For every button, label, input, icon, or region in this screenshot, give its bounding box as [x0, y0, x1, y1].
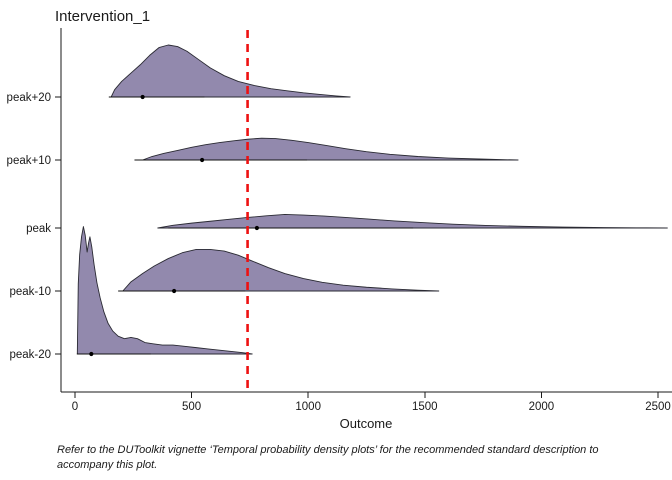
density-ridge-peak — [158, 214, 668, 230]
y-tick-label: peak-10 — [9, 286, 51, 298]
x-axis-ticks: 05001000150020002500 — [72, 392, 671, 413]
x-tick-label: 2000 — [529, 401, 555, 413]
y-tick-label: peak-20 — [9, 349, 51, 361]
y-axis-ticks: peak+20peak+10peakpeak-10peak-20 — [7, 92, 61, 361]
point-estimate-marker — [141, 95, 145, 99]
density-area — [111, 45, 350, 97]
density-ridge-peak+20 — [109, 45, 350, 99]
x-axis-title: Outcome — [340, 416, 393, 431]
point-estimate-marker — [89, 352, 93, 356]
point-estimate-marker — [200, 158, 204, 162]
y-tick-label: peak+20 — [7, 92, 51, 104]
figure-caption: Refer to the DUToolkit vignette ‘Tempora… — [57, 443, 657, 473]
density-ridge-peak+10 — [134, 138, 518, 162]
y-tick-label: peak — [26, 223, 51, 235]
x-tick-label: 1000 — [295, 401, 321, 413]
caption-line-1: Refer to the DUToolkit vignette ‘Tempora… — [57, 444, 586, 456]
plot-panel — [77, 30, 667, 392]
density-area — [143, 138, 518, 160]
ridgeline-plot-figure: Intervention_1 05001000150020002500 peak… — [0, 0, 672, 480]
chart-title: Intervention_1 — [55, 8, 150, 25]
point-estimate-marker — [172, 289, 176, 293]
point-estimate-marker — [255, 226, 259, 230]
x-tick-label: 2500 — [645, 401, 671, 413]
density-area — [123, 249, 439, 291]
density-area — [158, 214, 668, 228]
density-ridge-peak-10 — [118, 249, 439, 293]
ridgeline-chart-canvas: Intervention_1 05001000150020002500 peak… — [0, 0, 672, 480]
x-tick-label: 500 — [182, 401, 201, 413]
x-tick-label: 1500 — [412, 401, 438, 413]
x-tick-label: 0 — [72, 401, 78, 413]
y-tick-label: peak+10 — [7, 155, 51, 167]
